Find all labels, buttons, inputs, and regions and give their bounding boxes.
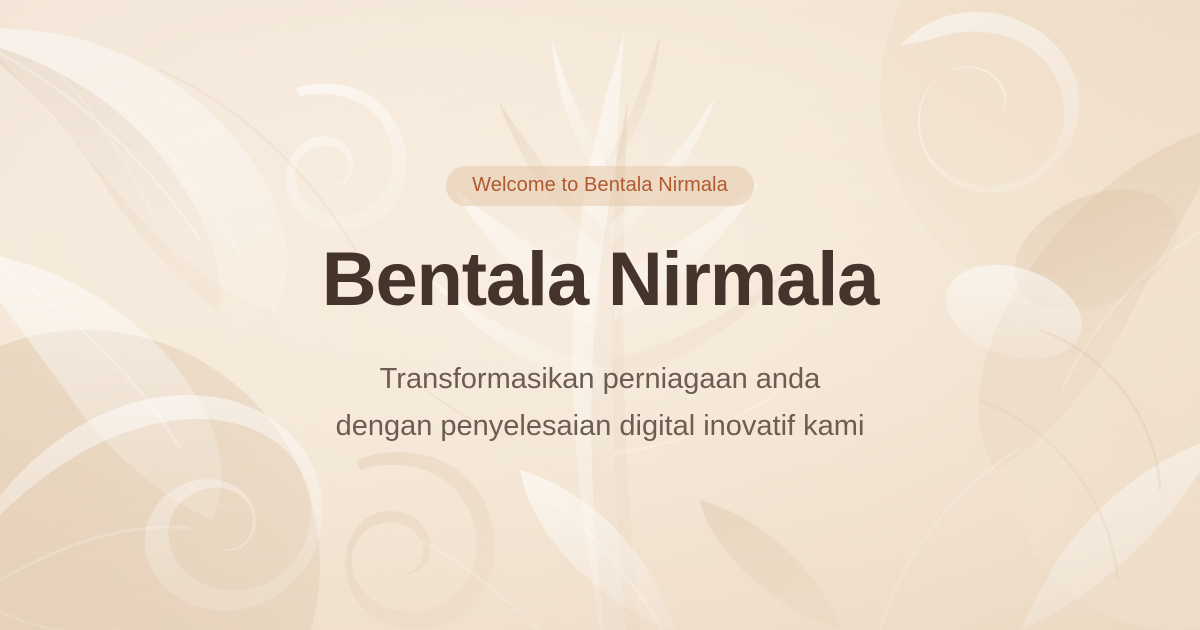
page-title: Bentala Nirmala	[322, 240, 878, 320]
hero-subtitle-line-2: dengan penyelesaian digital inovatif kam…	[336, 403, 865, 450]
welcome-badge: Welcome to Bentala Nirmala	[446, 166, 754, 206]
hero-banner: Welcome to Bentala Nirmala Bentala Nirma…	[0, 0, 1200, 630]
hero-subtitle-line-1: Transformasikan perniagaan anda	[336, 356, 865, 403]
hero-content: Welcome to Bentala Nirmala Bentala Nirma…	[0, 0, 1200, 630]
hero-subtitle: Transformasikan perniagaan anda dengan p…	[336, 356, 865, 450]
